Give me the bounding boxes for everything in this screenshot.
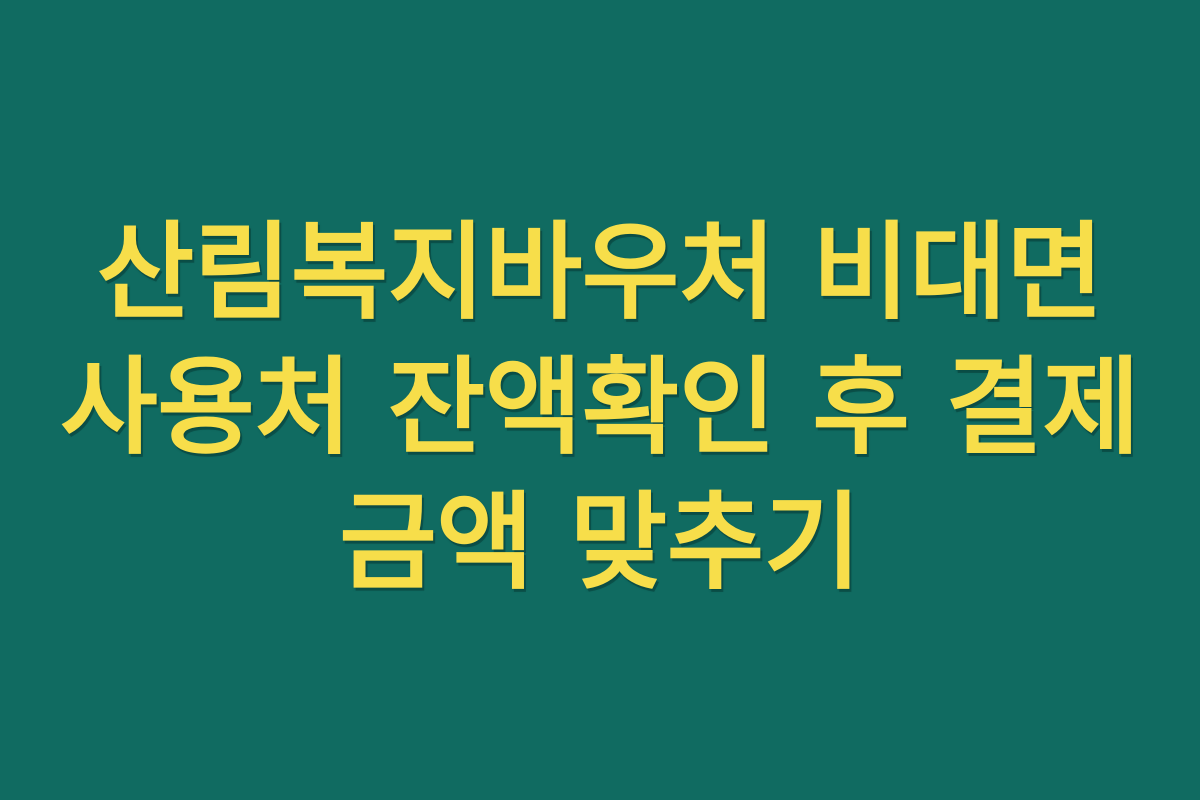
headline-block: 산림복지바우처 비대면 사용처 잔액확인 후 결제 금액 맞추기	[50, 205, 1150, 610]
thumbnail-canvas: 산림복지바우처 비대면 사용처 잔액확인 후 결제 금액 맞추기	[0, 0, 1200, 800]
headline-line-1: 산림복지바우처 비대면	[50, 205, 1150, 340]
headline-line-3: 금액 맞추기	[50, 475, 1150, 610]
headline-line-2: 사용처 잔액확인 후 결제	[50, 340, 1150, 475]
